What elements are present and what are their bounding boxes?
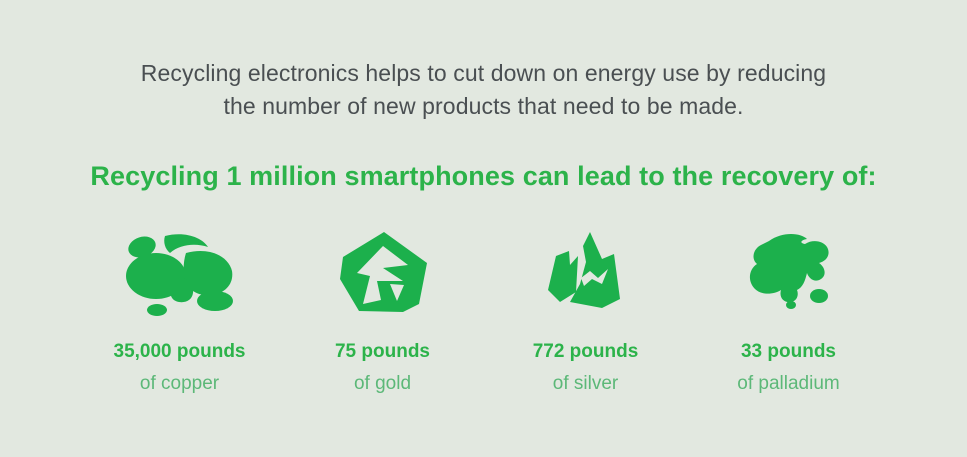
intro-line-2: the number of new products that need to … — [0, 90, 967, 123]
intro-paragraph: Recycling electronics helps to cut down … — [0, 57, 967, 123]
intro-line-1: Recycling electronics helps to cut down … — [0, 57, 967, 90]
copper-nuggets-icon — [121, 232, 239, 314]
metal-item-palladium: 33 pounds of palladium — [687, 232, 890, 396]
metal-amount: 35,000 pounds — [114, 340, 246, 364]
headline: Recycling 1 million smartphones can lead… — [0, 158, 967, 194]
metal-name: of gold — [354, 372, 411, 396]
metal-name: of copper — [140, 372, 219, 396]
metal-amount: 75 pounds — [335, 340, 430, 364]
metal-name: of silver — [553, 372, 618, 396]
recycling-infographic: Recycling electronics helps to cut down … — [0, 0, 967, 457]
palladium-blob-icon — [730, 232, 848, 314]
metal-amount: 33 pounds — [741, 340, 836, 364]
metal-name: of palladium — [737, 372, 839, 396]
metal-item-copper: 35,000 pounds of copper — [78, 232, 281, 396]
metal-item-silver: 772 pounds of silver — [484, 232, 687, 396]
metal-item-gold: 75 pounds of gold — [281, 232, 484, 396]
metal-amount: 772 pounds — [533, 340, 639, 364]
metals-row: 35,000 pounds of copper 75 pounds of gol… — [78, 232, 890, 396]
gold-nugget-icon — [324, 232, 442, 314]
silver-ore-crystal-icon — [527, 232, 645, 314]
